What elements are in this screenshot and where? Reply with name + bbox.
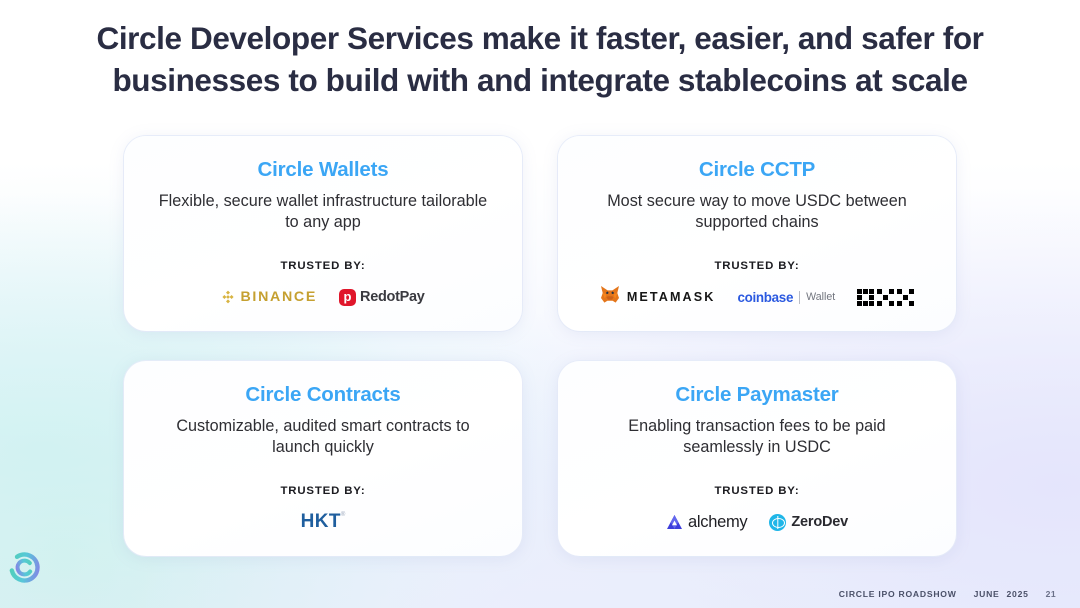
okx-logo: [857, 289, 914, 306]
partner-logo-row: HKT ®: [301, 510, 346, 534]
page-number: 21: [1046, 589, 1056, 599]
redotpay-logo: p RedotPay: [339, 289, 424, 306]
alchemy-logo: alchemy: [666, 513, 747, 532]
partner-logo-row: METAMASK coinbase Wallet: [600, 285, 914, 309]
slide-footer: CIRCLE IPO ROADSHOW JUNE 2025 21: [839, 589, 1056, 599]
partner-logo-row: BINANCE p RedotPay: [221, 285, 424, 309]
card-title: Circle CCTP: [699, 158, 815, 182]
service-card-circle-paymaster[interactable]: Circle Paymaster Enabling transaction fe…: [558, 361, 956, 556]
okx-letter-k-icon: [877, 289, 894, 306]
coinbase-wallet-suffix: Wallet: [806, 291, 835, 303]
trusted-by-label: TRUSTED BY:: [714, 485, 799, 497]
service-card-circle-contracts[interactable]: Circle Contracts Customizable, audited s…: [124, 361, 522, 556]
alchemy-triangle-icon: [666, 514, 683, 530]
card-description: Most secure way to move USDC between sup…: [592, 191, 922, 233]
binance-logo: BINANCE: [221, 289, 317, 305]
redotpay-p-icon: p: [339, 289, 356, 306]
service-card-circle-wallets[interactable]: Circle Wallets Flexible, secure wallet i…: [124, 136, 522, 331]
hkt-logo: HKT ®: [301, 511, 346, 533]
card-title: Circle Contracts: [245, 383, 400, 407]
partner-logo-row: alchemy ZeroDev: [666, 510, 848, 534]
redotpay-wordmark: RedotPay: [360, 289, 424, 305]
card-description: Customizable, audited smart contracts to…: [158, 416, 488, 458]
service-card-circle-cctp[interactable]: Circle CCTP Most secure way to move USDC…: [558, 136, 956, 331]
metamask-logo: METAMASK: [600, 285, 716, 309]
deck-name: CIRCLE IPO ROADSHOW: [839, 589, 957, 599]
card-description: Flexible, secure wallet infrastructure t…: [158, 191, 488, 233]
zerodev-logo: ZeroDev: [769, 514, 848, 531]
page-title: Circle Developer Services make it faster…: [0, 18, 1080, 101]
metamask-fox-icon: [600, 285, 620, 309]
service-card-grid: Circle Wallets Flexible, secure wallet i…: [124, 136, 956, 556]
metamask-wordmark: METAMASK: [627, 290, 716, 304]
trusted-by-label: TRUSTED BY:: [280, 485, 365, 497]
card-title: Circle Wallets: [258, 158, 389, 182]
trusted-by-label: TRUSTED BY:: [714, 260, 799, 272]
zerodev-globe-icon: [769, 514, 786, 531]
hkt-wordmark: HKT: [301, 511, 341, 533]
divider: [799, 291, 800, 304]
okx-letter-o-icon: [857, 289, 874, 306]
trusted-by-label: TRUSTED BY:: [280, 260, 365, 272]
zerodev-wordmark: ZeroDev: [791, 514, 848, 530]
binance-diamond-icon: [221, 290, 235, 304]
card-description: Enabling transaction fees to be paid sea…: [592, 416, 922, 458]
alchemy-wordmark: alchemy: [688, 513, 747, 532]
circle-logo-icon: [9, 552, 40, 583]
binance-wordmark: BINANCE: [240, 289, 317, 305]
deck-date: JUNE 2025: [974, 589, 1029, 599]
card-title: Circle Paymaster: [675, 383, 838, 407]
coinbase-wallet-logo: coinbase Wallet: [737, 290, 835, 305]
coinbase-wordmark: coinbase: [737, 290, 793, 305]
registered-trademark-icon: ®: [341, 512, 345, 518]
deck-year: 2025: [1007, 589, 1029, 599]
okx-letter-x-icon: [897, 289, 914, 306]
deck-month: JUNE: [974, 589, 1000, 599]
